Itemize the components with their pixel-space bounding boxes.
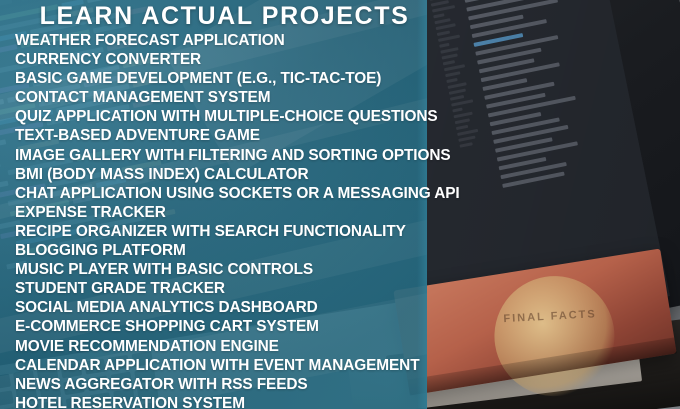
- text-content: LEARN ACTUAL PROJECTS WEATHER FORECAST A…: [0, 0, 427, 409]
- list-item: BMI (BODY MASS INDEX) CALCULATOR: [15, 165, 435, 184]
- list-item: BLOGGING PLATFORM: [15, 241, 435, 260]
- list-item: BASIC GAME DEVELOPMENT (E.G., TIC-TAC-TO…: [15, 69, 435, 88]
- list-item: CALENDAR APPLICATION WITH EVENT MANAGEME…: [15, 356, 435, 375]
- list-item: HOTEL RESERVATION SYSTEM: [15, 394, 435, 409]
- list-item: TEXT-BASED ADVENTURE GAME: [15, 126, 435, 145]
- list-item: E-COMMERCE SHOPPING CART SYSTEM: [15, 317, 435, 336]
- project-list: WEATHER FORECAST APPLICATIONCURRENCY CON…: [15, 31, 435, 409]
- list-item: QUIZ APPLICATION WITH MULTIPLE-CHOICE QU…: [15, 107, 435, 126]
- list-item: CURRENCY CONVERTER: [15, 50, 435, 69]
- list-item: EXPENSE TRACKER: [15, 203, 435, 222]
- list-item: CONTACT MANAGEMENT SYSTEM: [15, 88, 435, 107]
- list-item: MOVIE RECOMMENDATION ENGINE: [15, 337, 435, 356]
- list-item: NEWS AGGREGATOR WITH RSS FEEDS: [15, 375, 435, 394]
- list-item: IMAGE GALLERY WITH FILTERING AND SORTING…: [15, 146, 435, 165]
- list-item: RECIPE ORGANIZER WITH SEARCH FUNCTIONALI…: [15, 222, 435, 241]
- page-title: LEARN ACTUAL PROJECTS: [0, 2, 427, 31]
- list-item: WEATHER FORECAST APPLICATION: [15, 31, 435, 50]
- list-item: STUDENT GRADE TRACKER: [15, 279, 435, 298]
- list-item: SOCIAL MEDIA ANALYTICS DASHBOARD: [15, 298, 435, 317]
- promo-graphic: FINAL FACTS LEARN ACTUAL PROJECTS WEATHE…: [0, 0, 680, 409]
- list-item: CHAT APPLICATION USING SOCKETS OR A MESS…: [15, 184, 435, 203]
- list-item: MUSIC PLAYER WITH BASIC CONTROLS: [15, 260, 435, 279]
